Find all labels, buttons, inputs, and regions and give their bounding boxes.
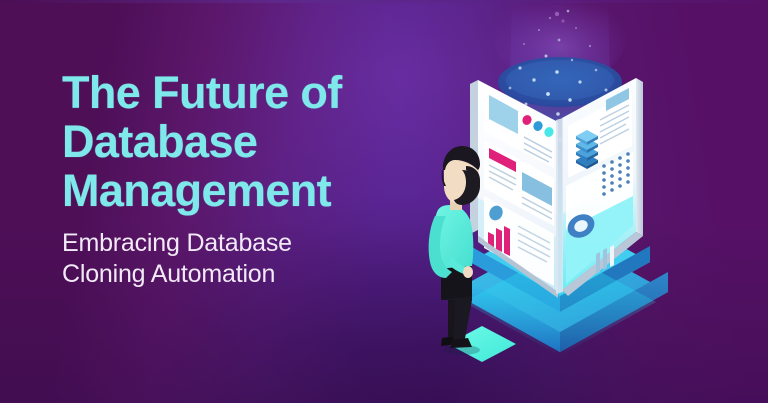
headline-line-3: Management	[62, 166, 402, 215]
text-block: The Future of Database Management Embrac…	[62, 68, 402, 290]
isometric-database-illustration	[400, 0, 768, 403]
page-subtitle: Embracing Database Cloning Automation	[62, 228, 402, 290]
banner-canvas: The Future of Database Management Embrac…	[0, 0, 768, 403]
headline-line-2: Database	[62, 117, 402, 166]
person-hand	[463, 266, 473, 278]
panel-fold-seam	[556, 118, 563, 294]
subtitle-line-1: Embracing Database	[62, 228, 402, 259]
headline-line-1: The Future of	[62, 68, 402, 117]
person-figure	[429, 146, 480, 355]
subtitle-line-2: Cloning Automation	[62, 259, 402, 290]
page-title: The Future of Database Management	[62, 68, 402, 215]
